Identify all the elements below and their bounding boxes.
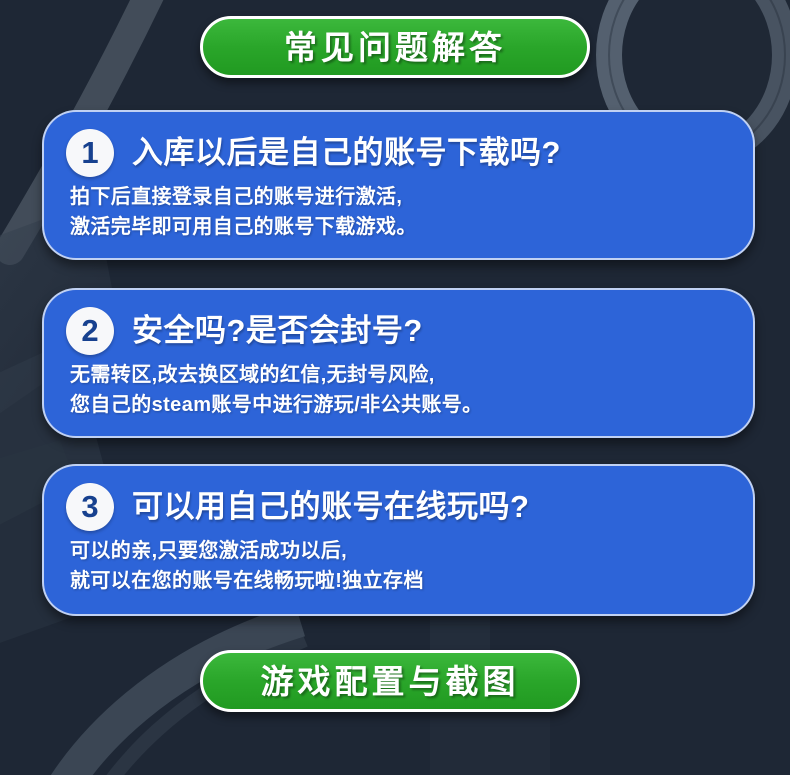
- faq-card-2-head: 2 安全吗?是否会封号?: [66, 304, 731, 358]
- faq-card-3-head: 3 可以用自己的账号在线玩吗?: [66, 480, 731, 534]
- number-badge-icon: 1: [66, 129, 114, 177]
- faq-card-2-answer-line-1: 无需转区,改去换区域的红信,无封号风险,: [70, 360, 731, 390]
- number-badge-icon: 3: [66, 483, 114, 531]
- game-config-button[interactable]: 游戏配置与截图: [200, 650, 580, 712]
- game-config-button-label: 游戏配置与截图: [261, 665, 520, 698]
- faq-card-1-answer: 拍下后直接登录自己的账号进行激活, 激活完毕即可用自己的账号下载游戏。: [70, 182, 731, 243]
- faq-card-1-number: 1: [81, 137, 98, 170]
- faq-card-2[interactable]: 2 安全吗?是否会封号? 无需转区,改去换区域的红信,无封号风险, 您自己的st…: [42, 288, 755, 438]
- page-root: 常见问题解答 1 入库以后是自己的账号下载吗? 拍下后直接登录自己的账号进行激活…: [0, 0, 790, 775]
- faq-card-1-answer-line-1: 拍下后直接登录自己的账号进行激活,: [70, 182, 731, 212]
- faq-card-3-number: 3: [81, 491, 98, 524]
- faq-card-3-answer: 可以的亲,只要您激活成功以后, 就可以在您的账号在线畅玩啦!独立存档: [70, 536, 731, 597]
- faq-card-3-answer-line-1: 可以的亲,只要您激活成功以后,: [70, 536, 731, 566]
- faq-card-1-answer-line-2: 激活完毕即可用自己的账号下载游戏。: [70, 212, 731, 242]
- faq-card-1-question: 入库以后是自己的账号下载吗?: [132, 136, 561, 170]
- number-badge-icon: 2: [66, 307, 114, 355]
- faq-card-3[interactable]: 3 可以用自己的账号在线玩吗? 可以的亲,只要您激活成功以后, 就可以在您的账号…: [42, 464, 755, 616]
- faq-card-2-answer-line-2: 您自己的steam账号中进行游玩/非公共账号。: [70, 390, 731, 420]
- faq-card-2-question: 安全吗?是否会封号?: [132, 314, 423, 348]
- faq-card-1[interactable]: 1 入库以后是自己的账号下载吗? 拍下后直接登录自己的账号进行激活, 激活完毕即…: [42, 110, 755, 260]
- faq-card-2-answer: 无需转区,改去换区域的红信,无封号风险, 您自己的steam账号中进行游玩/非公…: [70, 360, 731, 421]
- faq-card-1-head: 1 入库以后是自己的账号下载吗?: [66, 126, 731, 180]
- faq-header-button-label: 常见问题解答: [284, 31, 506, 64]
- faq-header-button[interactable]: 常见问题解答: [200, 16, 590, 78]
- faq-card-3-question: 可以用自己的账号在线玩吗?: [132, 490, 529, 524]
- faq-card-2-number: 2: [81, 315, 98, 348]
- faq-card-3-answer-line-2: 就可以在您的账号在线畅玩啦!独立存档: [70, 566, 731, 596]
